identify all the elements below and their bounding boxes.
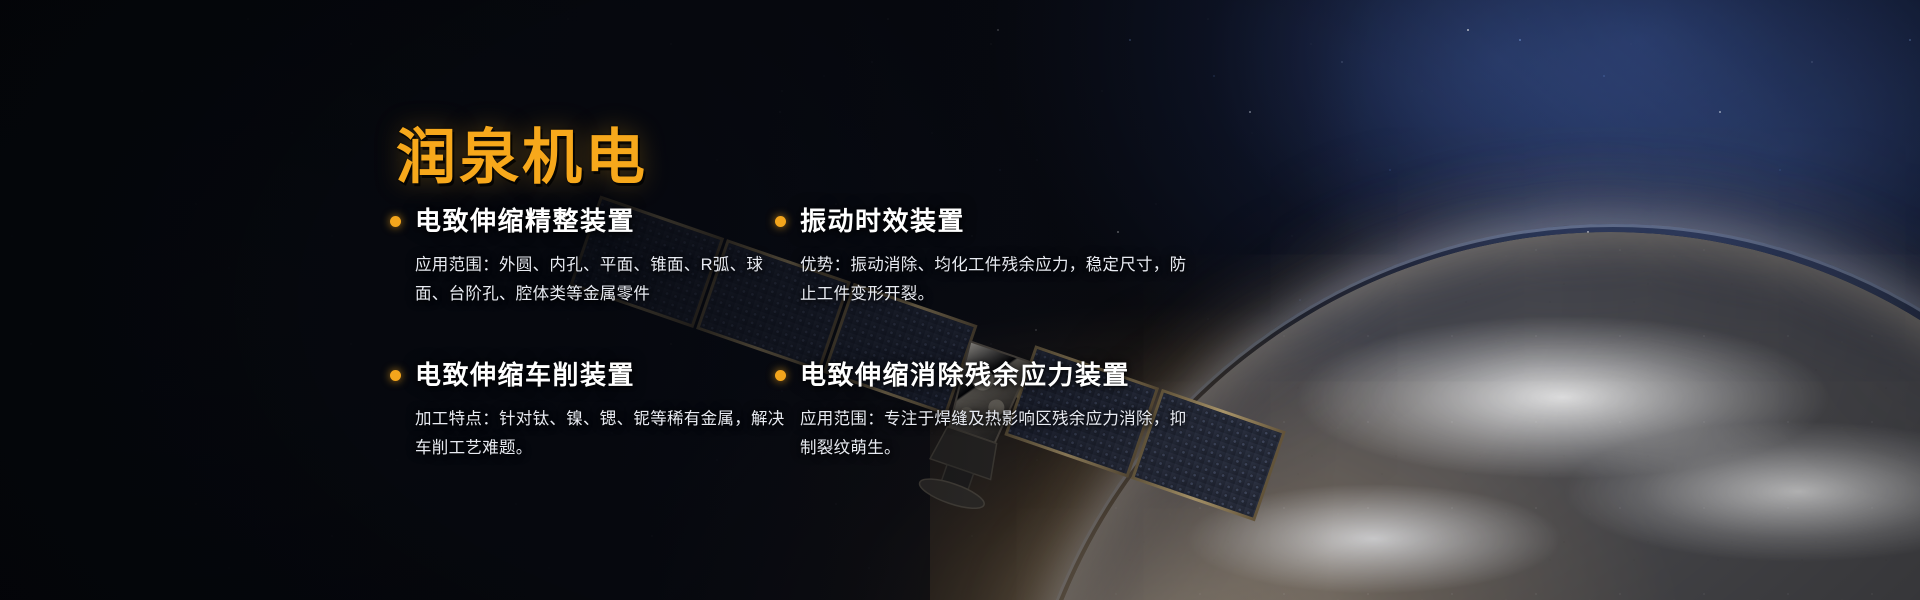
feature-item-1[interactable]: 电致伸缩精整装置 应用范围：外圆、内孔、平面、锥面、R弧、球面、台阶孔、腔体类等… [390, 206, 790, 308]
feature-1-title: 电致伸缩精整装置 [415, 206, 635, 237]
feature-1-heading: 电致伸缩精整装置 [390, 206, 790, 237]
feature-2-title: 振动时效装置 [800, 206, 965, 237]
feature-3-heading: 电致伸缩车削装置 [390, 360, 790, 391]
brand-title: 润泉机电 [396, 128, 648, 188]
feature-item-3[interactable]: 电致伸缩车削装置 加工特点：针对钛、镍、锶、铌等稀有金属，解决车削工艺难题。 [390, 360, 790, 462]
dot-bullet-icon [390, 370, 401, 381]
dot-bullet-icon [775, 216, 786, 227]
dot-bullet-icon [390, 216, 401, 227]
feature-3-description: 加工特点：针对钛、镍、锶、铌等稀有金属，解决车削工艺难题。 [390, 405, 790, 462]
feature-1-description: 应用范围：外圆、内孔、平面、锥面、R弧、球面、台阶孔、腔体类等金属零件 [390, 251, 790, 308]
banner-content: 润泉机电 电致伸缩精整装置 应用范围：外圆、内孔、平面、锥面、R弧、球面、台阶孔… [390, 0, 1510, 600]
feature-item-4[interactable]: 电致伸缩消除残余应力装置 应用范围：专注于焊缝及热影响区残余应力消除，抑制裂纹萌… [800, 360, 1320, 462]
feature-grid: 电致伸缩精整装置 应用范围：外圆、内孔、平面、锥面、R弧、球面、台阶孔、腔体类等… [390, 206, 1510, 462]
feature-3-title: 电致伸缩车削装置 [415, 360, 635, 391]
hero-banner: 润泉机电 电致伸缩精整装置 应用范围：外圆、内孔、平面、锥面、R弧、球面、台阶孔… [0, 0, 1920, 600]
feature-item-2[interactable]: 振动时效装置 优势：振动消除、均化工件残余应力，稳定尺寸，防止工件变形开裂。 [800, 206, 1320, 308]
feature-4-title: 电致伸缩消除残余应力装置 [800, 360, 1130, 391]
feature-4-heading: 电致伸缩消除残余应力装置 [775, 360, 1320, 391]
dot-bullet-icon [775, 370, 786, 381]
feature-2-heading: 振动时效装置 [775, 206, 1320, 237]
feature-2-description: 优势：振动消除、均化工件残余应力，稳定尺寸，防止工件变形开裂。 [800, 251, 1200, 308]
feature-4-description: 应用范围：专注于焊缝及热影响区残余应力消除，抑制裂纹萌生。 [800, 405, 1200, 462]
